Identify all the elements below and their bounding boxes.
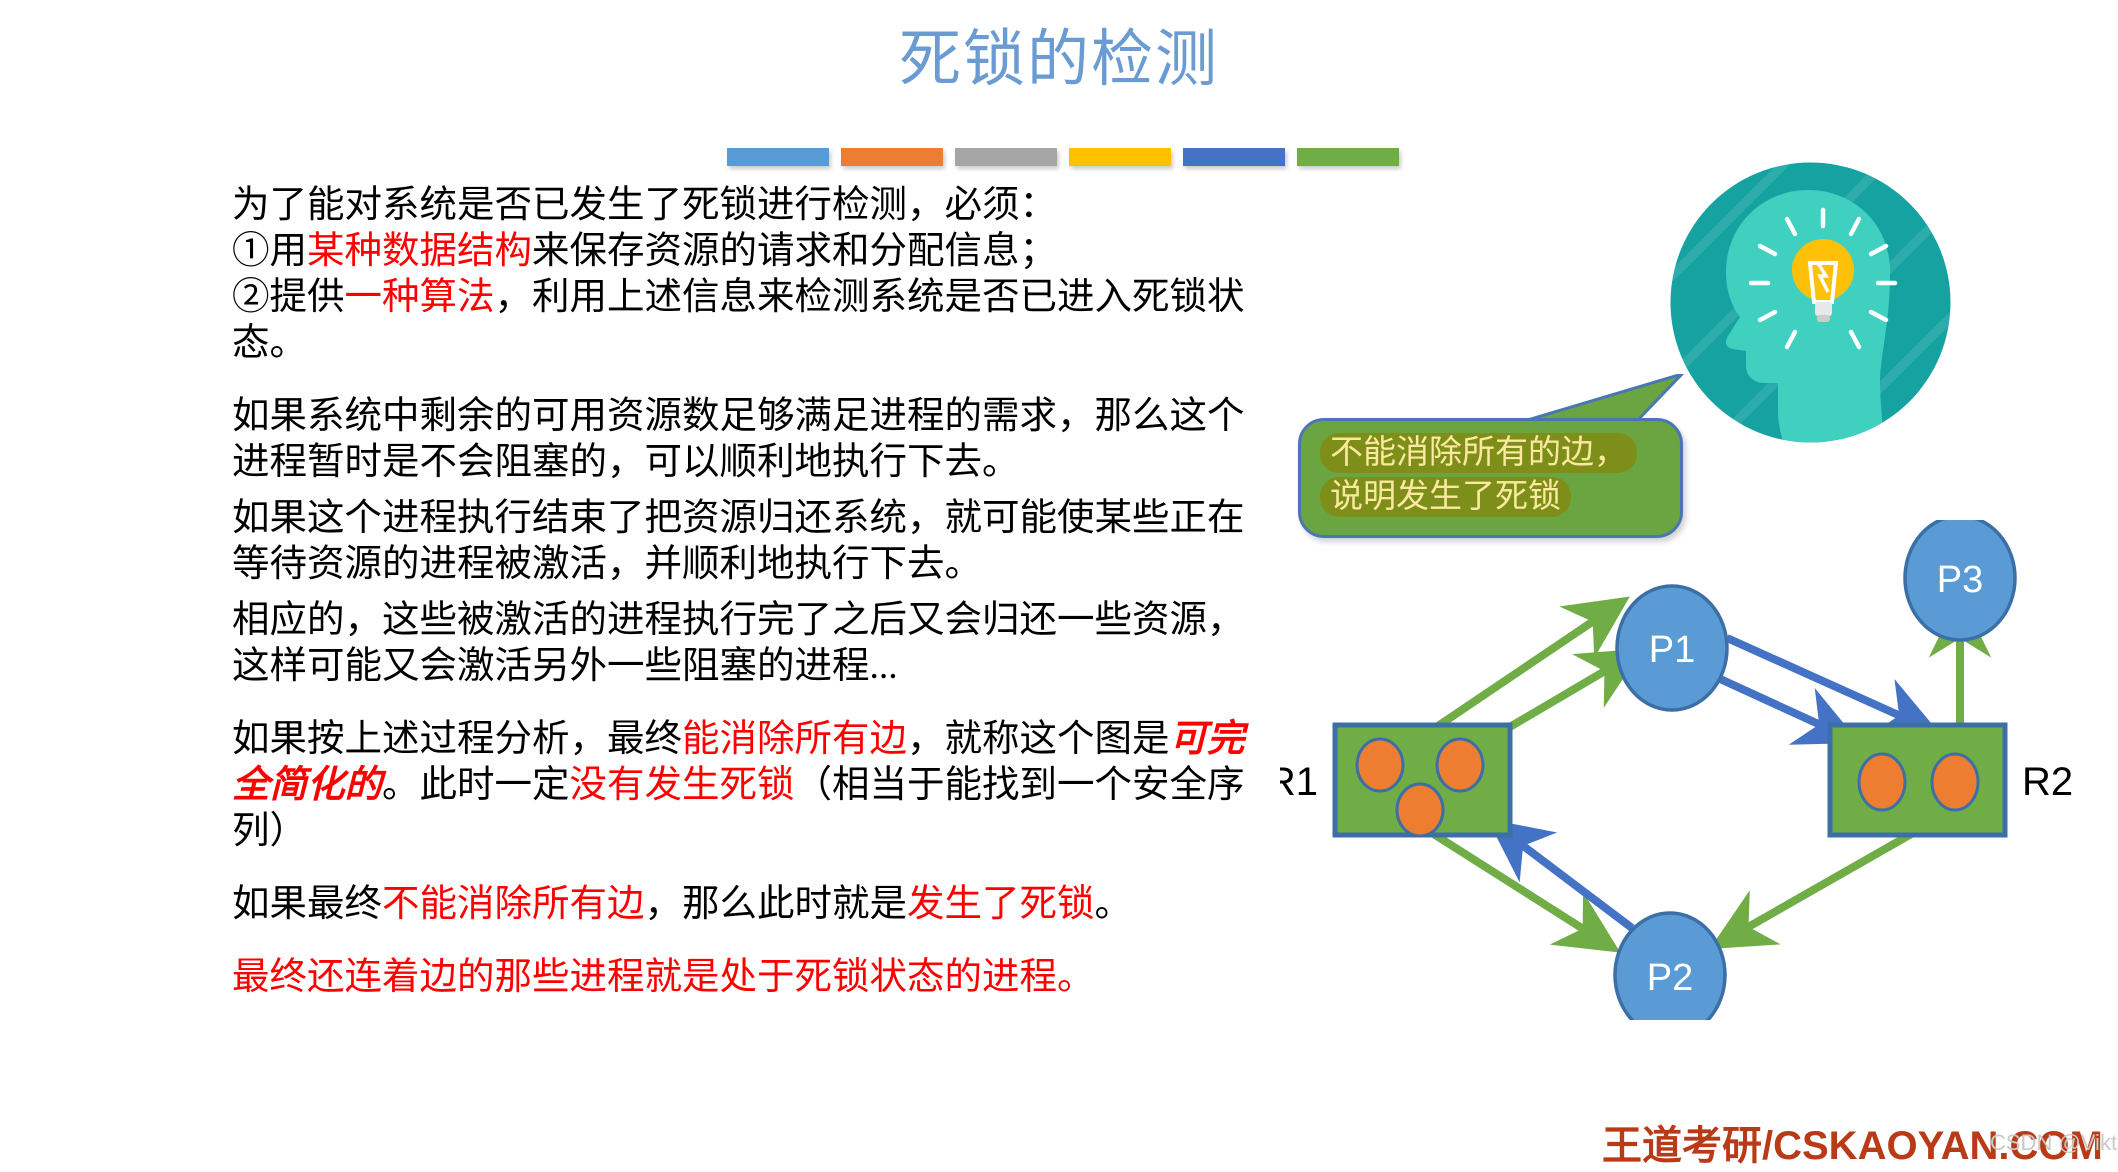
intro-line2-highlight: 某种数据结构: [307, 231, 532, 272]
process-node-p1: P1: [1617, 586, 1727, 710]
accent-bar-orange: [841, 148, 943, 166]
spacer: [232, 588, 1252, 598]
paragraph-intro-line3: ②提供一种算法，利用上述信息来检测系统是否已进入死锁状态。: [232, 275, 1252, 367]
reducible-mid2: 。此时一定: [382, 765, 570, 806]
process-label-p3: P3: [1937, 559, 1983, 601]
spacer: [232, 928, 1252, 955]
edge-p1-r2-a: [1727, 638, 1905, 718]
reducible-red-no-deadlock: 没有发生死锁: [570, 765, 795, 806]
resource-node-r2: [1830, 725, 2005, 835]
paragraph-available-resources: 如果系统中剩余的可用资源数足够满足进程的需求，那么这个进程暂时是不会阻塞的，可以…: [232, 394, 1252, 486]
slide-body-text: 为了能对系统是否已发生了死锁进行检测，必须： ①用某种数据结构来保存资源的请求和…: [232, 183, 1252, 1001]
paragraph-deadlock-condition: 如果最终不能消除所有边，那么此时就是发生了死锁。: [232, 882, 1252, 928]
process-label-p2: P2: [1647, 957, 1693, 999]
edge-r1-p2: [1432, 833, 1588, 932]
intro-line3-highlight: 一种算法: [345, 277, 495, 318]
deadlock-red-occurred: 发生了死锁: [907, 884, 1095, 925]
accent-bar-group: [727, 148, 1399, 166]
deadlock-red-cannot-remove: 不能消除所有边: [382, 884, 645, 925]
reducible-mid1: ，就称这个图是: [907, 719, 1170, 760]
edge-r2-p2: [1743, 833, 1913, 930]
paragraph-cascade-activation: 相应的，这些被激活的进程执行完了之后又会归还一些资源，这样可能又会激活另外一些阻…: [232, 598, 1252, 690]
process-node-p3: P3: [1905, 520, 2015, 640]
paragraph-intro-line1: 为了能对系统是否已发生了死锁进行检测，必须：: [232, 183, 1252, 229]
slide-canvas: 死锁的检测 为了能对系统是否已发生了死锁进行检测，必须： ①用某种数据结构来保存…: [0, 0, 2118, 1172]
page-title: 死锁的检测: [0, 28, 2118, 93]
reducible-red-can-remove: 能消除所有边: [682, 719, 907, 760]
edge-r1-p1-b: [1508, 668, 1610, 728]
deadlock-pre: 如果最终: [232, 884, 382, 925]
resource-label-r1: R1: [1280, 760, 1318, 804]
edge-p1-r2-b: [1718, 678, 1825, 727]
accent-bar-green: [1297, 148, 1399, 166]
paragraph-deadlocked-processes: 最终还连着边的那些进程就是处于死锁状态的进程。: [232, 955, 1252, 1001]
accent-bar-gray: [955, 148, 1057, 166]
process-node-p2: P2: [1615, 913, 1725, 1020]
intro-line3-pre: ②提供: [232, 277, 345, 318]
spacer: [232, 367, 1252, 394]
accent-bar-blue: [727, 148, 829, 166]
deadlock-mid: ，那么此时就是: [645, 884, 908, 925]
resource-label-r2: R2: [2022, 760, 2073, 804]
callout-text-highlight: 不能消除所有的边， 说明发生了死锁: [1320, 433, 1637, 517]
watermark-overlay: CSDN @Viktoriae: [1990, 1130, 2118, 1156]
reducible-pre: 如果按上述过程分析，最终: [232, 719, 682, 760]
resource-node-r1: [1335, 725, 1510, 836]
paragraph-intro-line2: ①用某种数据结构来保存资源的请求和分配信息；: [232, 229, 1252, 275]
edge-r1-p1-a: [1435, 618, 1598, 728]
callout-text: 不能消除所有的边， 说明发生了死锁: [1320, 431, 1650, 519]
process-label-p1: P1: [1649, 629, 1695, 671]
accent-bar-yellow: [1069, 148, 1171, 166]
accent-bar-navy: [1183, 148, 1285, 166]
resource-allocation-graph: R1 R2 P1 P2 P3: [1280, 520, 2118, 1020]
edge-p2-r1: [1518, 842, 1632, 928]
deadlock-post: 。: [1095, 884, 1133, 925]
spacer: [232, 486, 1252, 496]
paragraph-fully-reducible: 如果按上述过程分析，最终能消除所有边，就称这个图是可完全简化的。此时一定没有发生…: [232, 717, 1252, 855]
thinking-head-icon: [1668, 160, 1953, 445]
intro-line2-pre: ①用: [232, 231, 307, 272]
spacer: [232, 690, 1252, 717]
paragraph-release-resources: 如果这个进程执行结束了把资源归还系统，就可能使某些正在等待资源的进程被激活，并顺…: [232, 496, 1252, 588]
spacer: [232, 855, 1252, 882]
intro-line2-post: 来保存资源的请求和分配信息；: [532, 231, 1057, 272]
